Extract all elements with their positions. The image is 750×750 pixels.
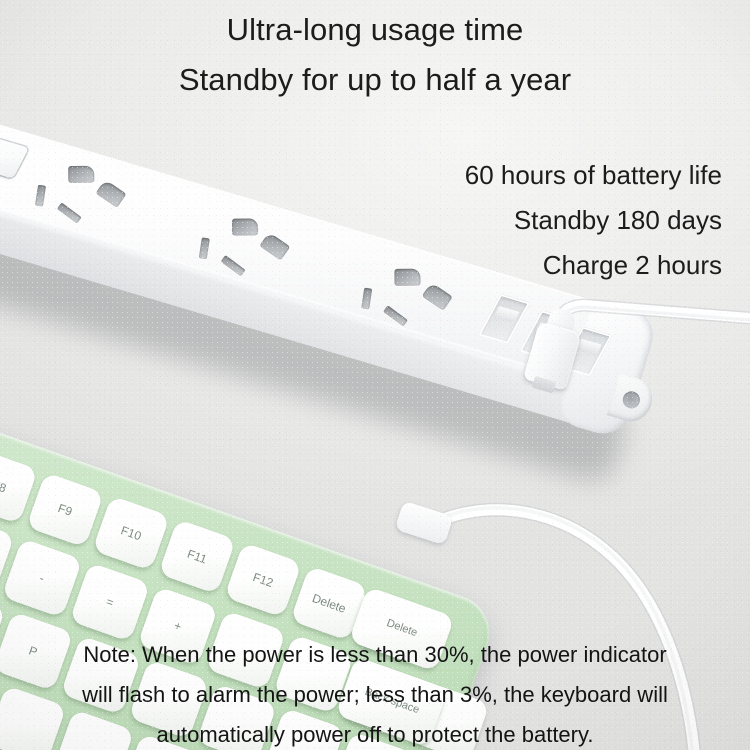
spec-battery-life: 60 hours of battery life bbox=[465, 160, 722, 191]
note-line-3: automatically power off to protect the b… bbox=[0, 722, 750, 748]
product-marketing-image: F5FFF7F8F9F10F11F12Delete7890-=+YUIOPHJK… bbox=[0, 0, 750, 750]
headline-line-1: Ultra-long usage time bbox=[0, 12, 750, 48]
socket-pin-left bbox=[394, 269, 420, 286]
keyboard-charge-connector bbox=[395, 501, 454, 546]
socket-pin-left bbox=[232, 218, 258, 235]
socket-slot-diagonal bbox=[383, 305, 408, 326]
socket-pin-left bbox=[68, 166, 94, 183]
note-line-1: Note: When the power is less than 30%, t… bbox=[0, 642, 750, 668]
key-f12[interactable]: F12 bbox=[224, 542, 302, 617]
key-f9[interactable]: F9 bbox=[26, 472, 104, 547]
key-=[interactable]: = bbox=[69, 562, 150, 642]
spec-charge-time: Charge 2 hours bbox=[543, 250, 722, 281]
socket-slot-vertical bbox=[199, 237, 210, 259]
key--[interactable]: - bbox=[2, 538, 83, 618]
socket-pin-right bbox=[259, 232, 290, 261]
socket-slot-diagonal bbox=[221, 255, 246, 276]
usb-port-tongue bbox=[494, 306, 520, 323]
socket-pin-right bbox=[95, 179, 126, 208]
socket-pin-right bbox=[422, 282, 453, 311]
note-line-2: will flash to alarm the power; less than… bbox=[0, 682, 750, 708]
socket-slot-diagonal bbox=[57, 202, 82, 223]
spec-standby: Standby 180 days bbox=[514, 205, 722, 236]
key-f10[interactable]: F10 bbox=[92, 496, 170, 571]
socket-slot-vertical bbox=[35, 185, 46, 207]
key-f11[interactable]: F11 bbox=[158, 519, 236, 594]
socket-slot-vertical bbox=[361, 288, 372, 310]
headline-line-2: Standby for up to half a year bbox=[0, 62, 750, 98]
